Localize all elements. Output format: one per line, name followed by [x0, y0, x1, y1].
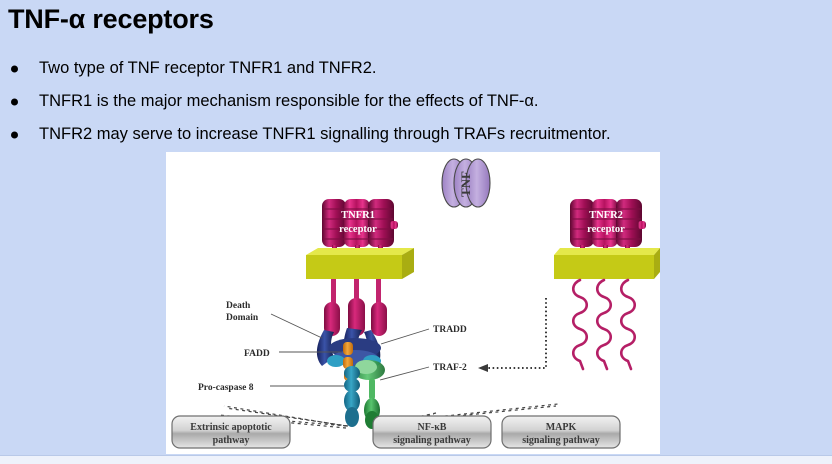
bullet-point-icon — [11, 131, 18, 138]
death-domain-label-line2: Domain — [226, 313, 259, 323]
tnfr2-coiled-tails — [573, 280, 635, 369]
fadd-label: FADD — [244, 349, 270, 359]
pathway-box-extrinsic[interactable]: Extrinsic apoptotic pathway — [172, 416, 290, 448]
nfkb-pathway-line2: signaling pathway — [393, 435, 471, 446]
tnfr2-to-traf2-connector — [488, 298, 546, 368]
nfkb-pathway-line1: NF-κB — [418, 422, 447, 433]
list-item: TNFR1 is the major mechanism responsible… — [0, 85, 820, 118]
tnf-ligand-icon: TNF — [442, 159, 490, 207]
list-item: Two type of TNF receptor TNFR1 and TNFR2… — [0, 52, 820, 85]
cell-membrane-left — [306, 248, 414, 279]
tnfr2-label-line2: receptor — [587, 224, 625, 235]
tnfr2-label-line1: TNFR2 — [589, 210, 623, 221]
pathway-box-nfkb[interactable]: NF-κB signaling pathway — [373, 416, 491, 448]
slide-bottom-strip — [0, 455, 832, 464]
bullet-point-icon — [11, 98, 18, 105]
tnf-ligand-label: TNF — [458, 171, 473, 197]
death-domain-label-line1: Death — [226, 301, 251, 311]
page-title: TNF-α receptors — [8, 4, 214, 35]
figure-image-panel: TNF TNFR1 — [166, 152, 660, 454]
bullet-text: Two type of TNF receptor TNFR1 and TNFR2… — [39, 60, 376, 77]
pro-caspase-8-molecule — [344, 366, 360, 427]
mapk-pathway-line2: signaling pathway — [522, 435, 600, 446]
pathway-box-mapk[interactable]: MAPK signaling pathway — [502, 416, 620, 448]
bullet-text: TNFR1 is the major mechanism responsible… — [39, 93, 539, 110]
tnfr2-receptor: TNFR2 receptor — [570, 199, 646, 255]
tradd-label: TRADD — [433, 325, 467, 335]
cell-membrane-right — [554, 248, 660, 279]
extrinsic-pathway-line1: Extrinsic apoptotic — [190, 422, 272, 433]
presentation-slide: TNF-α receptors Two type of TNF receptor… — [0, 0, 832, 464]
bullet-point-icon — [11, 65, 18, 72]
traf2-label: TRAF-2 — [433, 363, 467, 373]
tnfr1-label-line2: receptor — [339, 224, 377, 235]
mapk-pathway-line1: MAPK — [546, 422, 577, 433]
extrinsic-pathway-line2: pathway — [213, 435, 250, 446]
tnfr1-receptor: TNFR1 receptor — [322, 199, 398, 255]
tnfr1-label-line1: TNFR1 — [341, 210, 375, 221]
list-item: TNFR2 may serve to increase TNFR1 signal… — [0, 118, 820, 151]
tnfr1-transmembrane-stems — [324, 279, 387, 336]
connector-arrowhead-icon — [478, 364, 488, 372]
pro-caspase-8-label: Pro-caspase 8 — [198, 383, 254, 393]
bullet-text: TNFR2 may serve to increase TNFR1 signal… — [39, 126, 611, 143]
bullet-list: Two type of TNF receptor TNFR1 and TNFR2… — [0, 52, 820, 151]
